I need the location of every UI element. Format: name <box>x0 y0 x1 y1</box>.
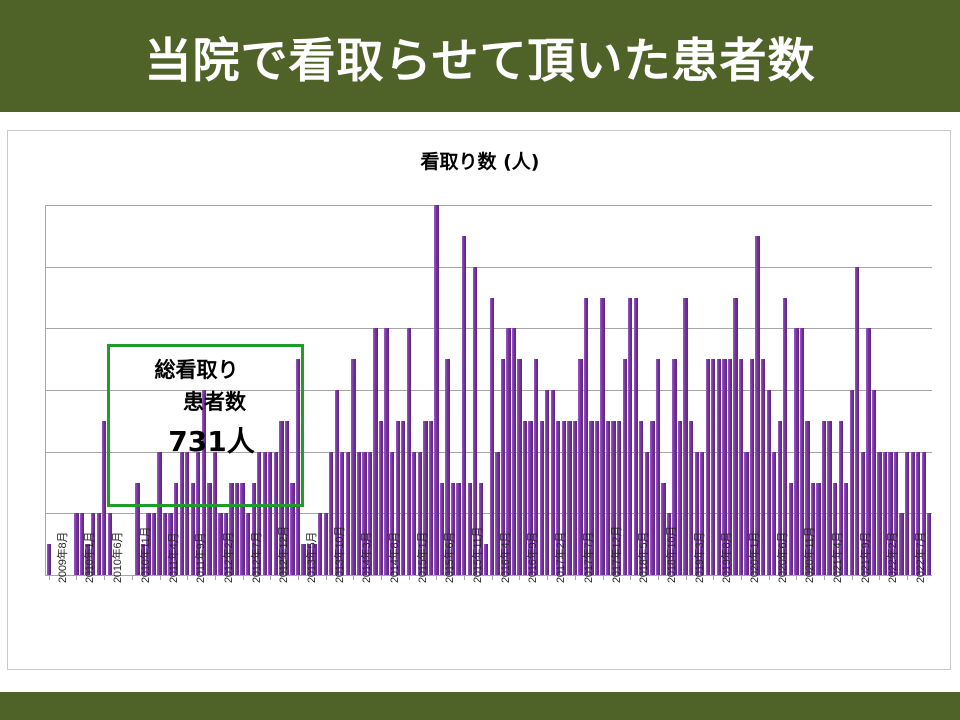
x-tick <box>630 575 631 580</box>
bar <box>573 421 577 575</box>
x-tick-label: 2016年9月 <box>524 532 540 583</box>
x-tick <box>353 575 354 580</box>
bar <box>351 359 355 575</box>
x-tick-label: 2010年11月 <box>137 527 153 583</box>
x-tick-label: 2010年6月 <box>109 532 125 583</box>
x-tick-label: 2011年9月 <box>192 533 208 583</box>
x-tick <box>270 575 271 580</box>
x-tick <box>741 575 742 580</box>
bar <box>855 267 859 575</box>
bar <box>373 328 377 575</box>
x-tick-label: 2022年7月 <box>912 532 928 583</box>
total-patients-callout: 総看取り 患者数 731人 <box>107 344 304 507</box>
x-tick <box>187 575 188 580</box>
page-title: 当院で看取らせて頂いた患者数 <box>0 0 960 112</box>
bar <box>324 513 328 575</box>
x-tick <box>215 575 216 580</box>
bar <box>711 359 715 575</box>
bar <box>74 513 78 575</box>
x-tick-label: 2021年9月 <box>857 532 873 583</box>
callout-line-1: 総看取り <box>155 355 239 387</box>
x-tick <box>326 575 327 580</box>
x-tick-label: 2017年2月 <box>552 532 568 583</box>
bar <box>434 205 438 575</box>
x-tick-label: 2017年7月 <box>580 532 596 583</box>
x-tick <box>464 575 465 580</box>
x-tick-label: 2013年10月 <box>331 526 347 583</box>
x-tick-label: 2015年11月 <box>469 527 485 583</box>
x-tick <box>824 575 825 580</box>
x-tick <box>713 575 714 580</box>
x-tick <box>298 575 299 580</box>
x-tick <box>160 575 161 580</box>
x-tick-label: 2019年3月 <box>691 532 707 583</box>
x-tick-label: 2018年10月 <box>663 526 679 583</box>
x-tick-label: 2014年8月 <box>386 532 402 583</box>
x-tick <box>852 575 853 580</box>
x-tick-label: 2013年5月 <box>303 532 319 583</box>
bar <box>822 421 826 575</box>
x-tick-label: 2022年2月 <box>884 532 900 583</box>
x-tick-label: 2012年12月 <box>275 526 291 583</box>
chart-title: 看取り数 (人) <box>8 147 952 174</box>
x-tick <box>907 575 908 580</box>
x-tick-label: 2020年11月 <box>801 527 817 583</box>
bar <box>794 328 798 575</box>
bar <box>540 421 544 575</box>
bar <box>379 421 383 575</box>
bar <box>102 421 106 575</box>
bar <box>407 328 411 575</box>
callout-total-value: 731人 <box>168 420 254 460</box>
x-tick-label: 2012年7月 <box>248 532 264 583</box>
x-tick <box>796 575 797 580</box>
bar <box>545 390 549 575</box>
x-tick <box>492 575 493 580</box>
x-tick <box>686 575 687 580</box>
x-tick-label: 2012年2月 <box>220 532 236 583</box>
x-tick <box>243 575 244 580</box>
bar <box>656 359 660 575</box>
x-tick-label: 2017年12月 <box>608 526 624 583</box>
x-tick <box>658 575 659 580</box>
chart-frame: 看取り数 (人) 024681012 2009年8月2010年1月2010年6月… <box>7 130 951 670</box>
bar <box>899 513 903 575</box>
x-tick-label: 2011年4月 <box>165 533 181 583</box>
bar <box>850 390 854 575</box>
bar <box>47 544 51 575</box>
bar <box>462 236 466 575</box>
x-tick-label: 2016年4月 <box>497 532 513 583</box>
bar <box>517 359 521 575</box>
x-tick-label: 2009年8月 <box>54 532 70 583</box>
bar <box>905 452 909 575</box>
x-tick <box>879 575 880 580</box>
bar <box>600 298 604 576</box>
bar <box>628 298 632 576</box>
x-tick-label: 2021年4月 <box>829 532 845 583</box>
footer-banner <box>0 692 960 720</box>
x-tick <box>519 575 520 580</box>
x-tick <box>769 575 770 580</box>
x-tick-label: 2019年8月 <box>718 532 734 583</box>
x-tick-label: 2010年1月 <box>81 532 97 583</box>
x-tick-label: 2015年1月 <box>414 532 430 583</box>
x-tick <box>381 575 382 580</box>
x-tick <box>409 575 410 580</box>
x-tick <box>603 575 604 580</box>
x-tick <box>76 575 77 580</box>
x-tick <box>104 575 105 580</box>
x-tick <box>49 575 50 580</box>
x-tick <box>575 575 576 580</box>
x-tick-label: 2020年1月 <box>746 532 762 583</box>
x-tick <box>547 575 548 580</box>
bar <box>816 483 820 576</box>
bar <box>456 483 460 576</box>
x-tick-label: 2015年6月 <box>441 532 457 583</box>
bar <box>97 513 101 575</box>
bar <box>877 452 881 575</box>
bar <box>739 359 743 575</box>
bar <box>683 298 687 576</box>
x-tick-label: 2020年6月 <box>774 532 790 583</box>
x-tick-label: 2014年3月 <box>358 532 374 583</box>
bar <box>767 390 771 575</box>
x-tick <box>436 575 437 580</box>
x-tick-label: 2018年5月 <box>635 532 651 583</box>
callout-line-2: 患者数 <box>183 387 246 419</box>
bar <box>755 236 759 575</box>
x-tick <box>132 575 133 580</box>
bar <box>490 298 494 576</box>
